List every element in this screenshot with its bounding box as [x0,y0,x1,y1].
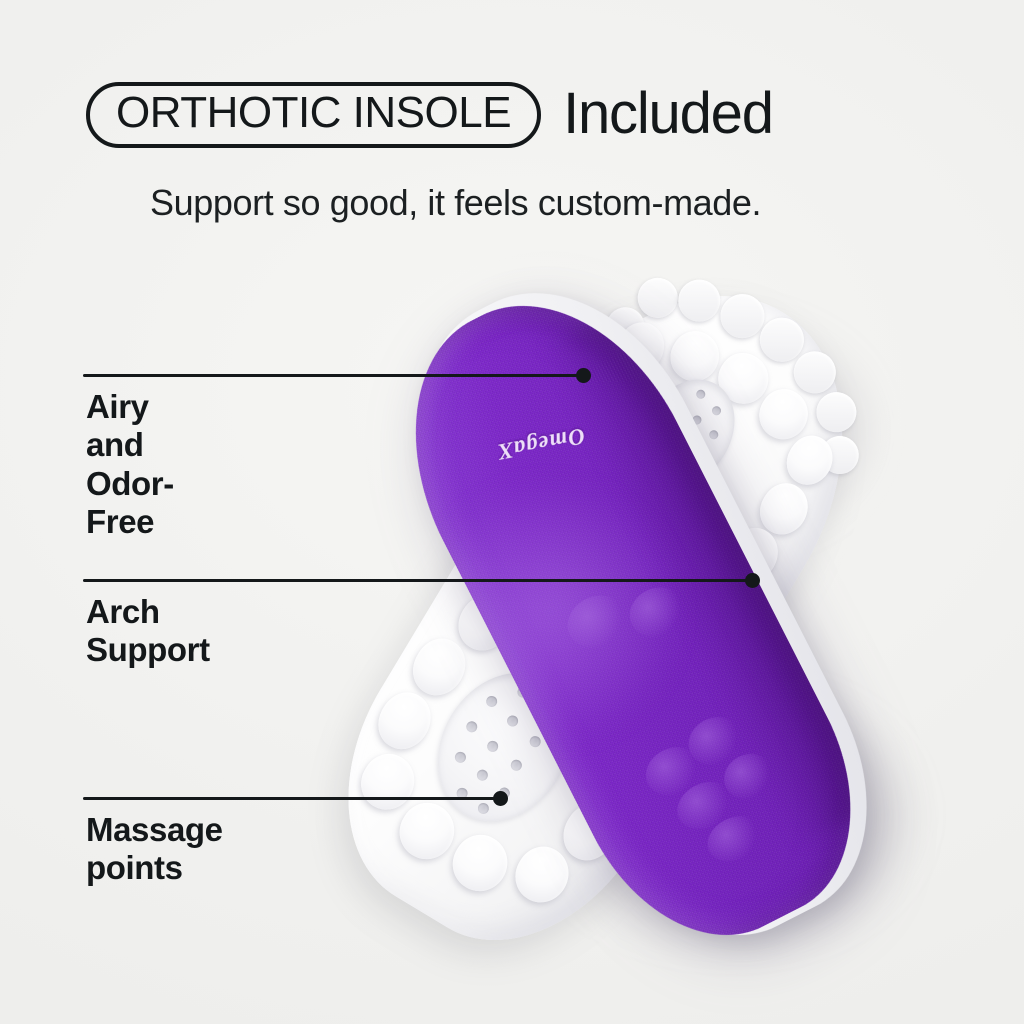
callout-label-massage-points: Massage points [86,811,223,888]
subtitle: Support so good, it feels custom-made. [150,182,761,224]
leader-line [83,374,583,377]
leader-dot [493,791,508,806]
callout-label-airy-odor-free: Airy and Odor-Free [86,388,174,541]
leader-line [83,797,500,800]
leader-line [83,579,752,582]
headline: ORTHOTIC INSOLE Included [86,82,773,148]
badge-label: ORTHOTIC INSOLE [116,91,511,135]
headline-suffix: Included [563,85,773,143]
infographic-canvas: OmegaX ORTHOTIC INSOLE Included Support … [0,0,1024,1024]
leader-dot [745,573,760,588]
callout-label-arch-support: Arch Support [86,593,210,670]
leader-dot [576,368,591,383]
orthotic-insole-badge: ORTHOTIC INSOLE [86,82,541,148]
